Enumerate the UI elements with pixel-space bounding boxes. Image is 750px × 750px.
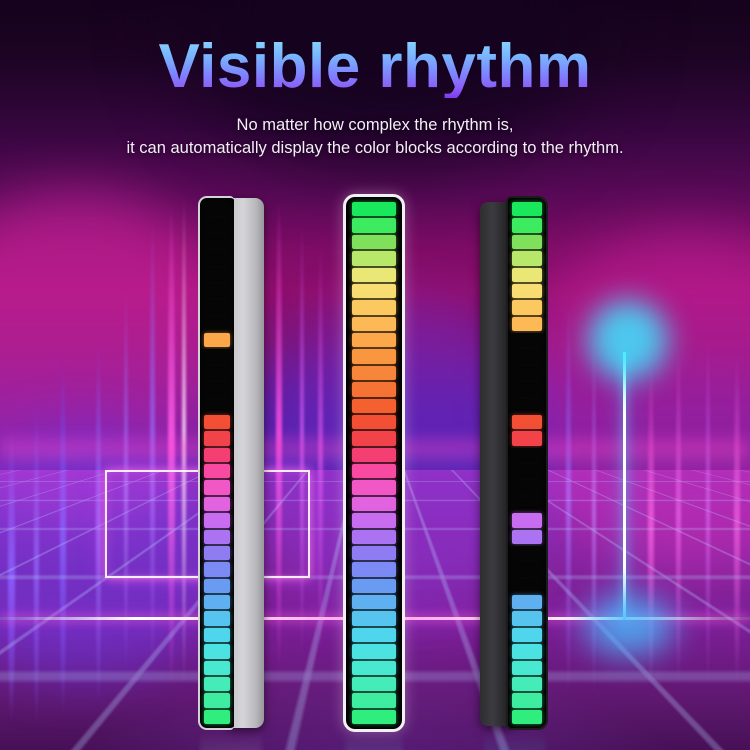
led-segment <box>352 284 396 298</box>
led-panel-black[interactable] <box>506 196 548 730</box>
led-segment <box>352 317 396 331</box>
led-segment <box>512 333 542 347</box>
led-segment <box>352 579 396 593</box>
led-segment <box>352 300 396 314</box>
led-segment <box>352 497 396 511</box>
led-segment <box>512 382 542 396</box>
led-segment <box>204 710 230 724</box>
led-segment <box>512 661 542 675</box>
led-segment <box>352 218 396 232</box>
led-segment <box>204 251 230 265</box>
led-segment <box>204 366 230 380</box>
led-segment <box>512 579 542 593</box>
led-segment <box>352 677 396 691</box>
neon-line-vertical-right <box>623 352 626 620</box>
led-segment <box>204 300 230 314</box>
led-segment <box>512 480 542 494</box>
led-segment <box>204 415 230 429</box>
led-segment <box>352 235 396 249</box>
subtitle-line-1: No matter how complex the rhythm is, <box>0 114 750 138</box>
glow-vertical-top-cyan <box>588 300 668 380</box>
led-segment <box>204 480 230 494</box>
led-panel-white[interactable] <box>343 194 405 732</box>
led-segment <box>512 628 542 642</box>
led-segment <box>512 415 542 429</box>
led-segment <box>204 317 230 331</box>
led-segment <box>512 349 542 363</box>
rhythm-light-silver[interactable] <box>198 196 264 730</box>
led-segment <box>352 480 396 494</box>
led-segment <box>204 464 230 478</box>
led-segment <box>204 218 230 232</box>
led-segment <box>352 448 396 462</box>
led-segment <box>512 284 542 298</box>
glow-vertical-base-cyan <box>584 596 674 656</box>
led-segment <box>352 661 396 675</box>
rhythm-light-black[interactable] <box>480 196 548 730</box>
led-segment <box>512 677 542 691</box>
led-segment <box>352 382 396 396</box>
led-segment <box>512 448 542 462</box>
led-segment <box>204 693 230 707</box>
led-segment <box>352 530 396 544</box>
led-segment <box>204 399 230 413</box>
led-segment <box>352 202 396 216</box>
led-segment <box>204 235 230 249</box>
led-segment <box>352 562 396 576</box>
led-segment <box>512 562 542 576</box>
led-segment <box>512 268 542 282</box>
led-segment <box>204 202 230 216</box>
led-segment <box>512 530 542 544</box>
led-segment <box>352 628 396 642</box>
led-segment <box>512 202 542 216</box>
led-segment <box>512 546 542 560</box>
led-segment <box>352 399 396 413</box>
page-title: Visible rhythm <box>0 36 750 98</box>
product-banner: Visible rhythm No matter how complex the… <box>0 0 750 750</box>
led-segment <box>512 218 542 232</box>
led-segment <box>352 431 396 445</box>
led-segment <box>512 464 542 478</box>
led-segment <box>204 530 230 544</box>
led-segment <box>352 546 396 560</box>
led-segment <box>512 513 542 527</box>
led-segment <box>204 628 230 642</box>
led-segment <box>204 448 230 462</box>
led-segment <box>352 611 396 625</box>
led-segment <box>204 644 230 658</box>
led-segment <box>352 693 396 707</box>
led-segment <box>512 595 542 609</box>
led-segment <box>204 333 230 347</box>
led-segment <box>204 562 230 576</box>
subtitle-line-2: it can automatically display the color b… <box>0 137 750 161</box>
led-segment <box>204 579 230 593</box>
led-segment <box>512 317 542 331</box>
led-segment <box>352 251 396 265</box>
led-segment <box>204 677 230 691</box>
led-segment <box>352 415 396 429</box>
led-segment <box>204 595 230 609</box>
led-segment <box>512 300 542 314</box>
led-segment <box>204 382 230 396</box>
led-segment <box>352 513 396 527</box>
rhythm-light-white[interactable] <box>343 194 405 732</box>
led-segment <box>512 710 542 724</box>
led-segment <box>204 349 230 363</box>
led-panel-silver[interactable] <box>198 196 234 730</box>
led-segment <box>204 513 230 527</box>
led-segment <box>352 366 396 380</box>
led-segment <box>512 497 542 511</box>
led-segment <box>352 333 396 347</box>
led-segment <box>512 399 542 413</box>
led-segment <box>512 431 542 445</box>
led-segment <box>204 661 230 675</box>
led-segment <box>352 595 396 609</box>
led-segment <box>352 644 396 658</box>
led-segment <box>204 268 230 282</box>
led-segment <box>204 546 230 560</box>
led-segment <box>352 710 396 724</box>
led-segment <box>352 349 396 363</box>
led-segment <box>204 611 230 625</box>
led-segment <box>352 464 396 478</box>
led-segment <box>204 284 230 298</box>
led-segment <box>352 268 396 282</box>
led-segment <box>512 251 542 265</box>
led-segment <box>204 497 230 511</box>
led-segment <box>512 693 542 707</box>
led-segment <box>512 235 542 249</box>
led-segment <box>512 611 542 625</box>
led-segment <box>512 366 542 380</box>
led-segment <box>512 644 542 658</box>
led-segment <box>204 431 230 445</box>
